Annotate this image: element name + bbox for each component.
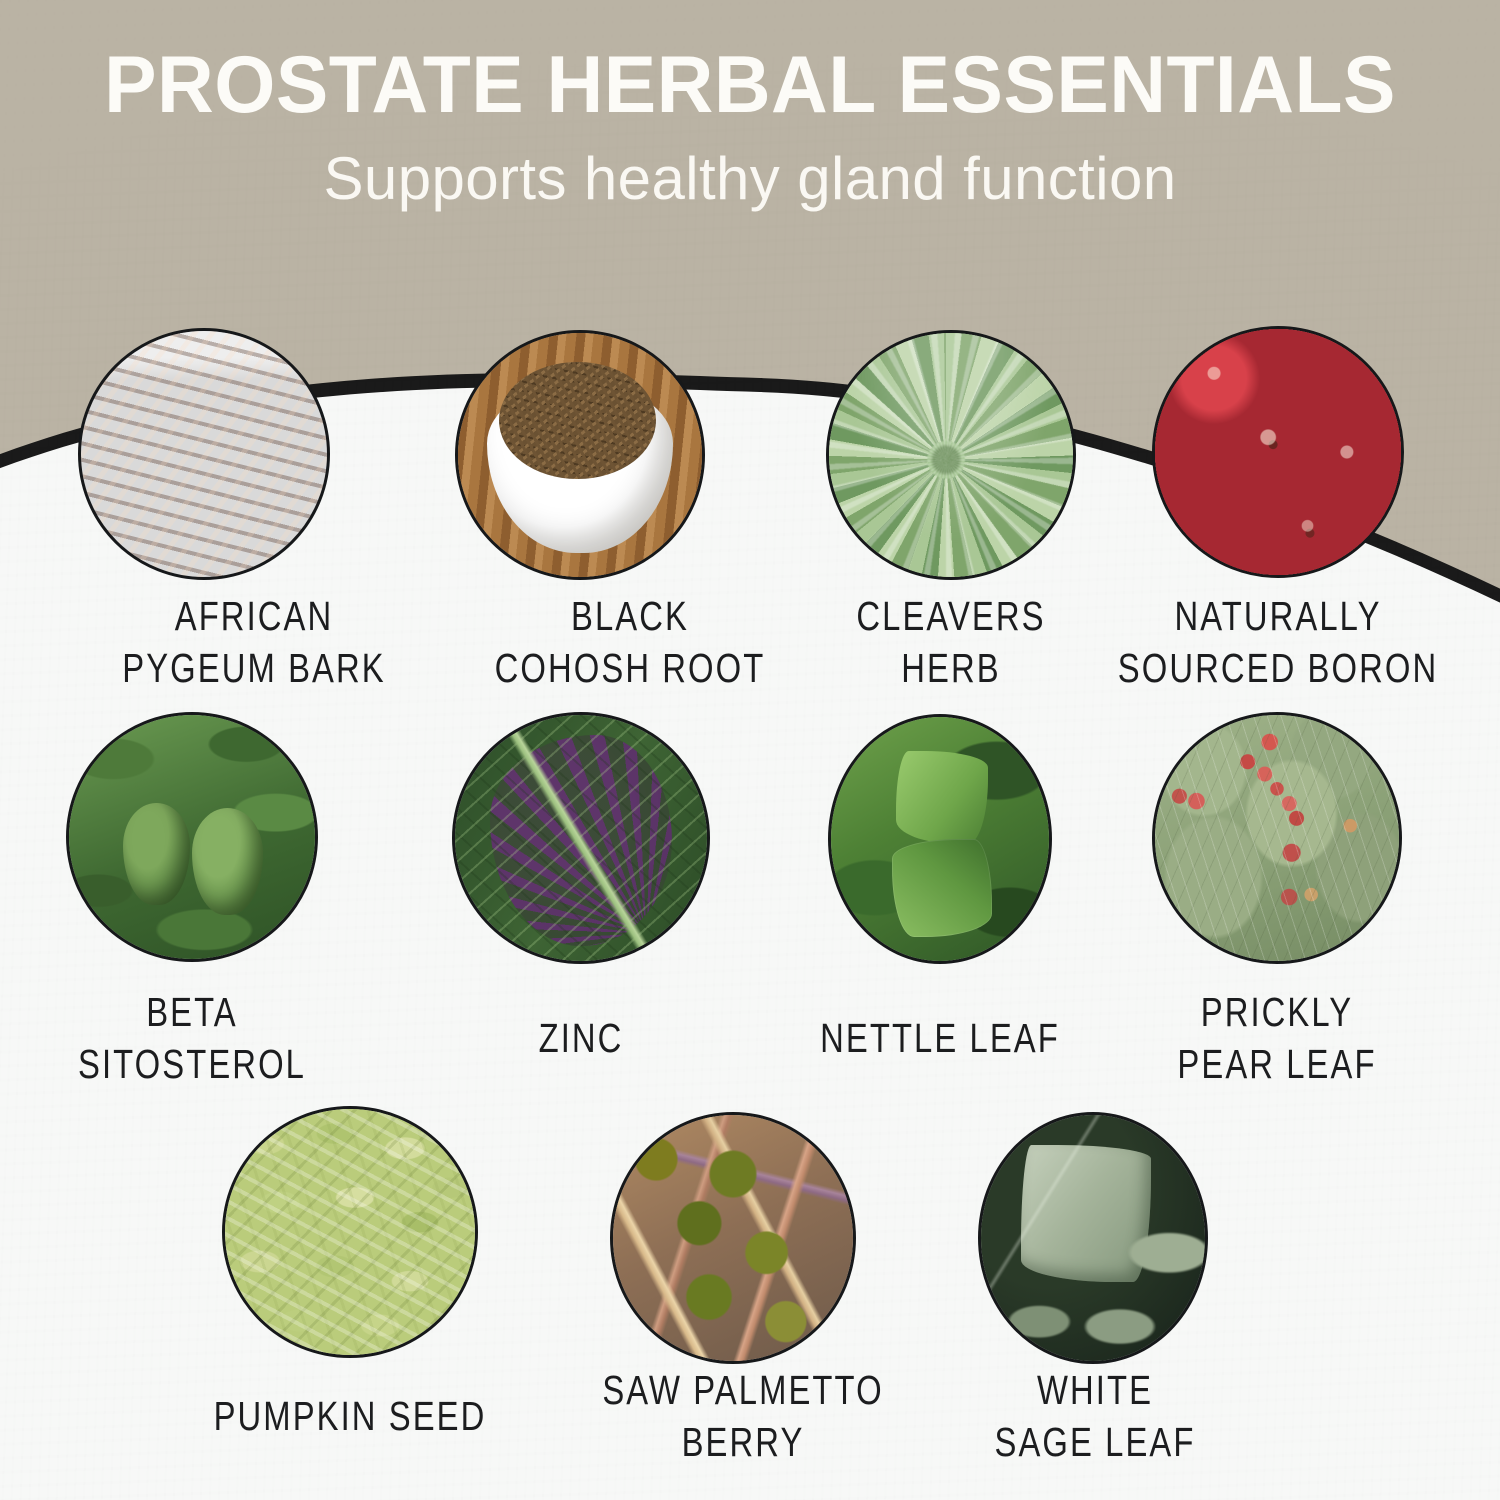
ingredient-label-prickly-pear-leaf: PRICKLY PEAR LEAF	[1037, 986, 1500, 1091]
saw-palmetto-berry-photo	[610, 1112, 856, 1364]
header: PROSTATE HERBAL ESSENTIALS Supports heal…	[0, 0, 1500, 210]
prickly-pear-leaf-photo	[1152, 712, 1402, 964]
page-subtitle: Supports healthy gland function	[0, 127, 1500, 210]
pumpkin-seed-photo	[222, 1106, 478, 1358]
naturally-sourced-boron-photo	[1152, 326, 1404, 578]
white-sage-leaf-photo	[978, 1112, 1208, 1364]
ingredient-grid: AFRICAN PYGEUM BARK BLACK COHOSH ROOT CL…	[0, 0, 1500, 1500]
ingredient-label-naturally-sourced-boron: NATURALLY SOURCED BORON	[1038, 590, 1500, 695]
nettle-leaf-photo	[828, 714, 1052, 964]
african-pygeum-bark-photo	[78, 328, 330, 580]
page-title: PROSTATE HERBAL ESSENTIALS	[23, 0, 1478, 127]
zinc-photo	[452, 712, 710, 964]
ingredient-label-white-sage-leaf: WHITE SAGE LEAF	[855, 1364, 1335, 1469]
cleavers-herb-photo	[826, 330, 1076, 580]
beta-sitosterol-photo	[66, 712, 318, 962]
product-ingredient-infographic: PROSTATE HERBAL ESSENTIALS Supports heal…	[0, 0, 1500, 1500]
black-cohosh-root-photo	[455, 330, 705, 580]
